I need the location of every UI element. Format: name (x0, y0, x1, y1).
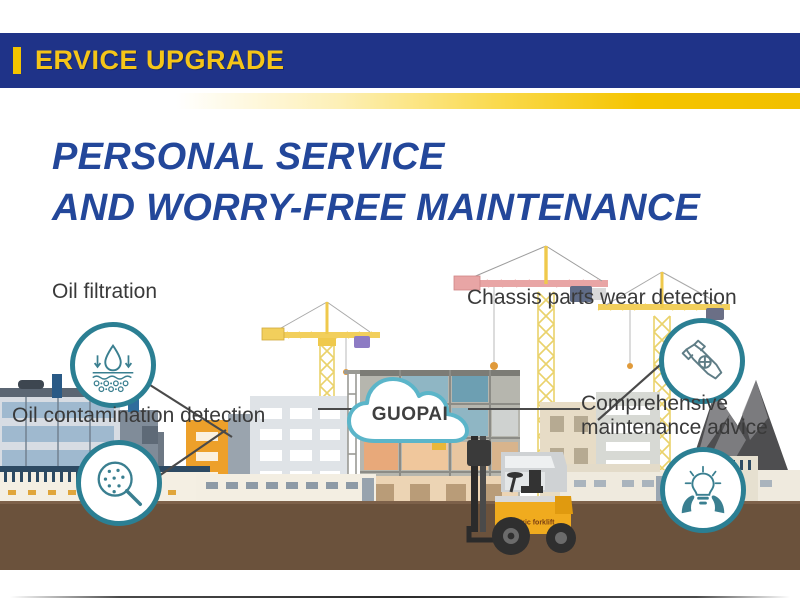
page-title: PERSONAL SERVICE AND WORRY-FREE MAINTENA… (52, 132, 772, 233)
feature-label-oil-contamination-detection: Oil contamination detection (12, 404, 265, 428)
page-title-line1: PERSONAL SERVICE (52, 136, 445, 178)
top-white-gap (0, 0, 800, 33)
bottom-white-strip (0, 570, 800, 615)
lightbulb-in-hands-icon[interactable] (660, 447, 746, 533)
yellow-gradient-strip (0, 93, 800, 109)
feature-label-oil-filtration: Oil filtration (52, 280, 157, 304)
advice-label-line1: Comprehensive (581, 392, 728, 415)
warehouse-mid (196, 474, 376, 504)
header-accent-bar (13, 47, 21, 74)
header-band: ERVICE UPGRADE (0, 33, 800, 88)
bottom-divider-line (10, 596, 790, 598)
page-title-line2: AND WORRY-FREE MAINTENANCE (52, 183, 772, 234)
feature-label-comprehensive-maintenance-advice: Comprehensive maintenance advice (581, 392, 796, 439)
advice-label-line2: maintenance advice (581, 416, 768, 439)
poster-root: ERVICE UPGRADE PERSONAL SERVICE AND WORR… (0, 0, 800, 615)
magnifier-particles-icon[interactable] (76, 440, 162, 526)
oil-droplet-filter-icon[interactable] (70, 322, 156, 408)
electric-forklift: Electric forklift (455, 430, 595, 570)
feature-label-chassis-parts-wear-detection: Chassis parts wear detection (467, 286, 737, 310)
header-title: ERVICE UPGRADE (35, 45, 285, 76)
